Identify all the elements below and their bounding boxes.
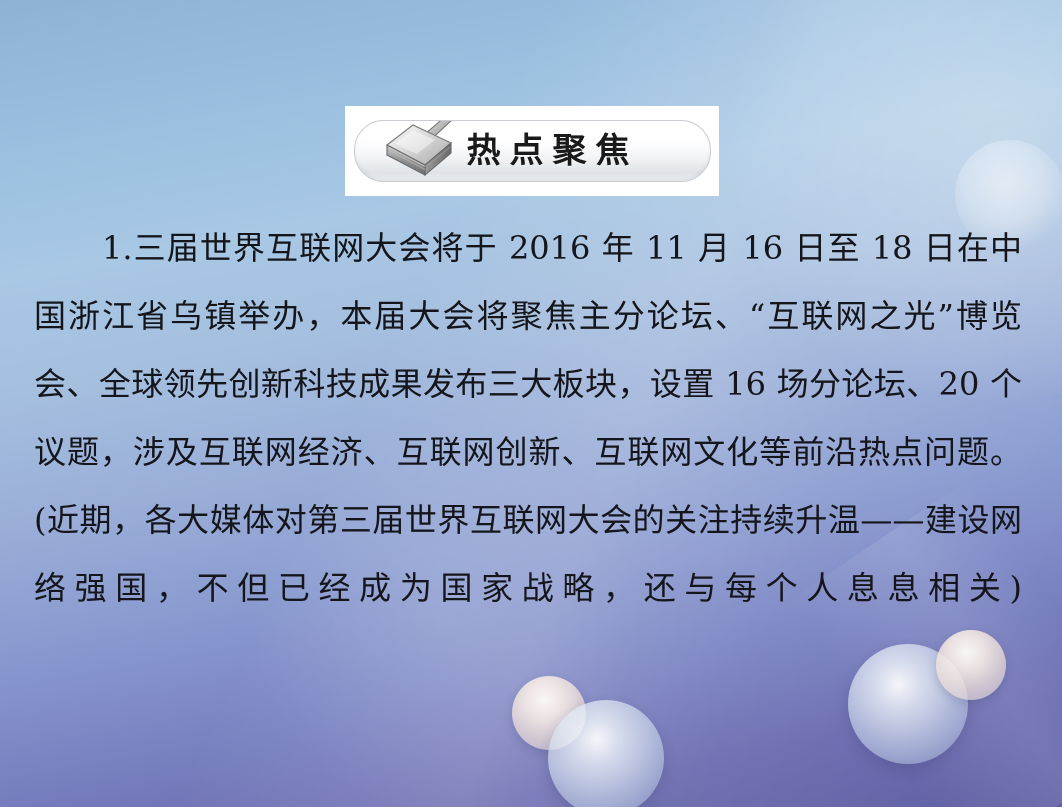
section-header-title: 热点聚焦 [467,134,639,168]
decorative-sphere-large-left [548,700,664,807]
section-header-pill: 热点聚焦 [354,120,711,182]
book-and-pen-icon [373,120,465,182]
section-header-banner: 热点聚焦 [345,106,719,196]
body-paragraph: 1.三届世界互联网大会将于 2016 年 11 月 16 日至 18 日在中国浙… [34,214,1022,690]
slide-canvas: 热点聚焦 1.三届世界互联网大会将于 2016 年 11 月 16 日至 18 … [0,0,1062,807]
